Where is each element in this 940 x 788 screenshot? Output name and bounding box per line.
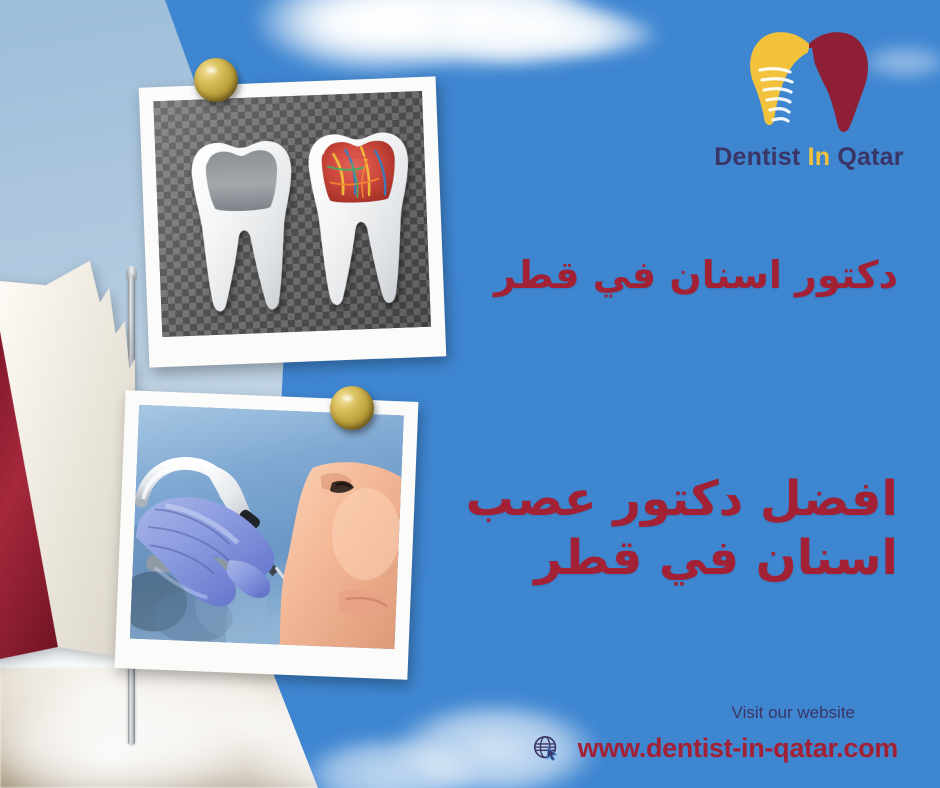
- tooth-with-cavity: [191, 140, 297, 312]
- logo-word-dentist: Dentist: [714, 143, 800, 171]
- photo-inner: [153, 91, 431, 337]
- brand-logo[interactable]: Dentist In Qatar: [684, 22, 934, 172]
- photo-inner: [130, 405, 404, 649]
- brass-pin: [194, 58, 238, 102]
- headline-secondary: افضل دكتور عصب اسنان في قطر: [418, 470, 898, 587]
- clinic-scene: [130, 405, 404, 649]
- logo-wordmark: Dentist In Qatar: [684, 143, 934, 172]
- brass-pin: [330, 386, 374, 430]
- logo-word-qatar: Qatar: [837, 143, 903, 171]
- tooth-with-inflamed-pulp: [307, 132, 413, 306]
- banner-canvas: Dentist In Qatar دكتور اسنان في قطر افضل…: [0, 0, 940, 788]
- teeth-comparison-photo[interactable]: [139, 76, 447, 367]
- root-canal-treatment-photo[interactable]: [115, 390, 419, 680]
- headline-secondary-line1: افضل دكتور عصب: [418, 470, 898, 529]
- website-url-row[interactable]: www.dentist-in-qatar.com: [532, 733, 898, 764]
- visit-website-label: Visit our website: [732, 703, 855, 723]
- globe-cursor-icon: [532, 734, 562, 764]
- headline-primary: دكتور اسنان في قطر: [418, 252, 898, 298]
- logo-word-in: In: [808, 143, 831, 171]
- tooth-implant-logo-icon: [684, 22, 934, 137]
- headline-secondary-line2: اسنان في قطر: [418, 529, 898, 588]
- website-url[interactable]: www.dentist-in-qatar.com: [578, 733, 898, 764]
